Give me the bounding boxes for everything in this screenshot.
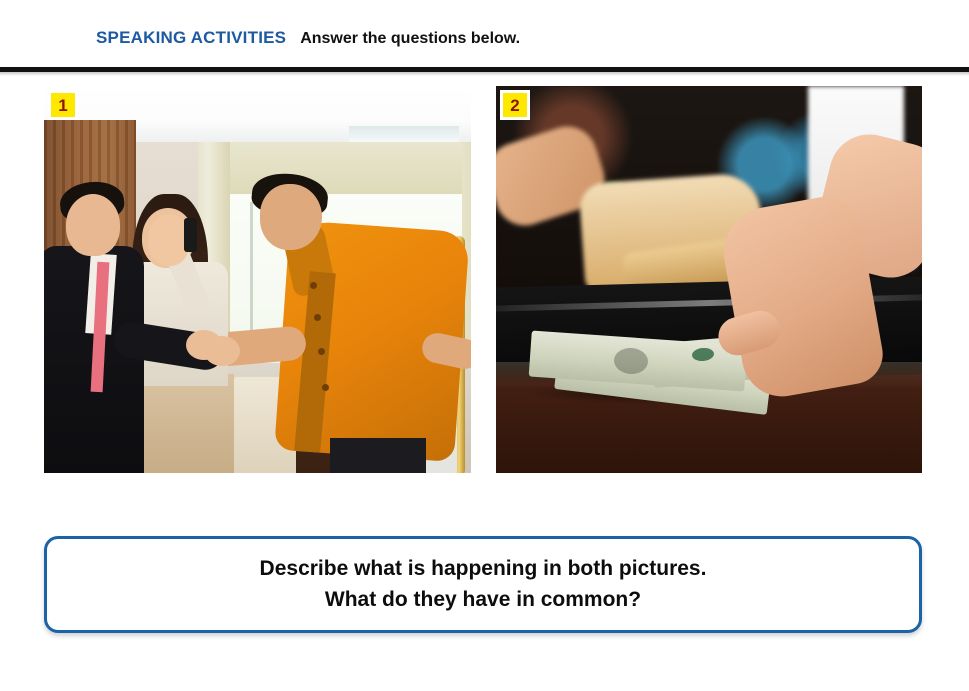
uniform-button: [318, 348, 325, 355]
window-valance: [194, 142, 471, 194]
bellhop-hand-receiving: [186, 330, 222, 360]
instruction-text: Answer the questions below.: [300, 30, 520, 48]
uniform-button: [310, 282, 317, 289]
uniform-button: [314, 314, 321, 321]
header-text-group: SPEAKING ACTIVITIES Answer the questions…: [96, 28, 520, 48]
uniform-button: [322, 384, 329, 391]
page-header: SPEAKING ACTIVITIES Answer the questions…: [0, 0, 969, 68]
question-line-1: Describe what is happening in both pictu…: [260, 554, 707, 584]
section-title: SPEAKING ACTIVITIES: [96, 28, 286, 48]
question-box: Describe what is happening in both pictu…: [44, 536, 922, 633]
ceiling-light-panel: [349, 126, 459, 142]
picture-2[interactable]: 2: [496, 86, 922, 473]
bellhop-head: [260, 184, 322, 250]
bellhop-trousers: [330, 438, 426, 473]
restaurant-scene: [496, 86, 922, 473]
worksheet-page: SPEAKING ACTIVITIES Answer the questions…: [0, 0, 969, 691]
picture-number-badge-2: 2: [500, 90, 530, 120]
man-head: [66, 194, 120, 256]
header-divider-shadow: [0, 72, 969, 76]
hotel-room-scene: [44, 86, 471, 473]
picture-number-badge-1: 1: [48, 90, 78, 120]
question-line-2: What do they have in common?: [325, 585, 641, 615]
picture-1[interactable]: 1: [44, 86, 471, 473]
mobile-phone: [184, 218, 197, 252]
